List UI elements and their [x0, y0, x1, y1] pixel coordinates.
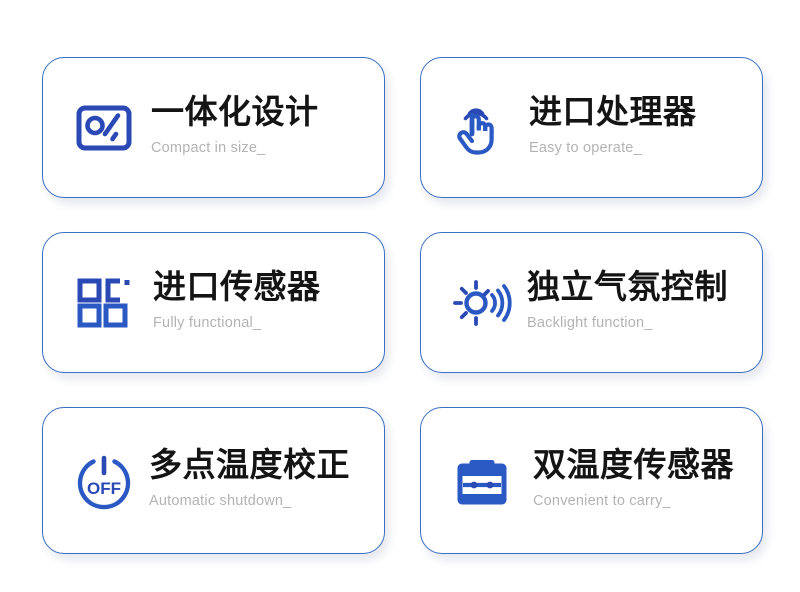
feature-card-temperature-calibration[interactable]: OFF 多点温度校正 Automatic shutdown_	[42, 407, 385, 554]
feature-text: 多点温度校正 Automatic shutdown_	[149, 449, 350, 512]
feature-title: 双温度传感器	[533, 449, 734, 485]
feature-subtitle: Fully functional_	[153, 316, 321, 332]
tap-hand-icon	[451, 97, 513, 159]
feature-card-integrated-design[interactable]: 一体化设计 Compact in size_	[42, 57, 385, 198]
feature-card-dual-temp-sensor[interactable]: 双温度传感器 Convenient to carry_	[420, 407, 763, 554]
feature-grid: 一体化设计 Compact in size_ 进口处理器 Easy to ope…	[0, 0, 800, 592]
feature-title: 进口传感器	[153, 271, 321, 307]
feature-card-imported-sensor[interactable]: 进口传感器 Fully functional_	[42, 232, 385, 373]
modules-grid-icon	[73, 272, 135, 334]
feature-title: 进口处理器	[529, 96, 697, 132]
percent-display-icon	[73, 97, 135, 159]
feature-title: 一体化设计	[151, 96, 319, 132]
sun-backlight-icon	[451, 272, 513, 334]
feature-title: 多点温度校正	[149, 449, 350, 485]
feature-subtitle: Easy to operate_	[529, 141, 697, 157]
feature-card-atmosphere-control[interactable]: 独立气氛控制 Backlight function_	[420, 232, 763, 373]
feature-text: 双温度传感器 Convenient to carry_	[533, 449, 734, 512]
feature-text: 一体化设计 Compact in size_	[151, 96, 319, 159]
feature-text: 进口处理器 Easy to operate_	[529, 96, 697, 159]
feature-text: 进口传感器 Fully functional_	[153, 271, 321, 334]
feature-subtitle: Backlight function_	[527, 316, 728, 332]
power-off-label: OFF	[87, 479, 121, 498]
feature-text: 独立气氛控制 Backlight function_	[527, 271, 728, 334]
feature-title: 独立气氛控制	[527, 271, 728, 307]
feature-subtitle: Compact in size_	[151, 141, 319, 157]
power-off-icon: OFF	[73, 450, 135, 512]
feature-subtitle: Automatic shutdown_	[149, 494, 350, 510]
feature-subtitle: Convenient to carry_	[533, 494, 734, 510]
toolbox-icon	[451, 450, 513, 512]
feature-card-imported-processor[interactable]: 进口处理器 Easy to operate_	[420, 57, 763, 198]
